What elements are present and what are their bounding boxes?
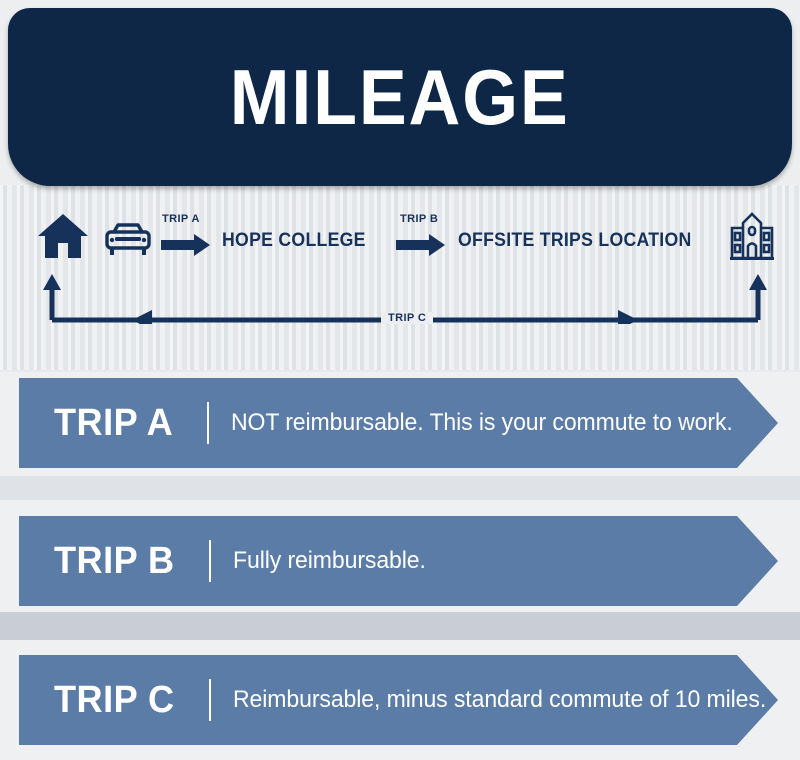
header-banner: MILEAGE bbox=[8, 8, 792, 186]
diagram-trip-a-tag: TRIP A bbox=[162, 213, 200, 225]
background-band-b bbox=[0, 476, 800, 500]
trip-banner-c: TRIP C Reimbursable, minus standard comm… bbox=[19, 655, 778, 745]
banner-title: TRIP A bbox=[54, 402, 173, 445]
banner-divider bbox=[207, 402, 209, 444]
banner-divider bbox=[209, 679, 211, 721]
diagram-destination-label: HOPE COLLEGE bbox=[222, 230, 366, 252]
banner-title: TRIP B bbox=[54, 540, 175, 583]
banner-content: TRIP B Fully reimbursable. bbox=[19, 540, 434, 583]
diagram-destination-offsite: OFFSITE TRIPS LOCATION bbox=[458, 230, 709, 252]
infographic-page: MILEAGE TRIP A bbox=[0, 0, 800, 760]
banner-divider bbox=[209, 540, 211, 582]
background-band-d bbox=[0, 612, 800, 640]
diagram-trip-c-tag: TRIP C bbox=[381, 312, 433, 324]
trip-a-arrow-icon bbox=[161, 233, 211, 257]
car-icon bbox=[104, 223, 152, 257]
banner-description: Fully reimbursable. bbox=[233, 547, 426, 575]
diagram-destination-hope-college: HOPE COLLEGE bbox=[222, 230, 377, 252]
house-icon bbox=[36, 212, 90, 260]
diagram-destination-label: OFFSITE TRIPS LOCATION bbox=[458, 230, 692, 252]
page-title: MILEAGE bbox=[230, 58, 570, 136]
trip-b-arrow-icon bbox=[396, 233, 446, 257]
trip-banner-b: TRIP B Fully reimbursable. bbox=[19, 516, 778, 606]
banner-content: TRIP C Reimbursable, minus standard comm… bbox=[19, 679, 788, 722]
banner-description: NOT reimbursable. This is your commute t… bbox=[231, 409, 733, 437]
journey-diagram: TRIP A HOPE COLLEGE TRIP B OFFSITE TRIPS… bbox=[0, 190, 800, 340]
college-building-icon bbox=[728, 212, 776, 262]
banner-content: TRIP A NOT reimbursable. This is your co… bbox=[19, 402, 754, 445]
diagram-trip-b-tag: TRIP B bbox=[400, 213, 438, 225]
banner-title: TRIP C bbox=[54, 679, 175, 722]
banner-description: Reimbursable, minus standard commute of … bbox=[233, 686, 766, 714]
trip-banner-a: TRIP A NOT reimbursable. This is your co… bbox=[19, 378, 778, 468]
